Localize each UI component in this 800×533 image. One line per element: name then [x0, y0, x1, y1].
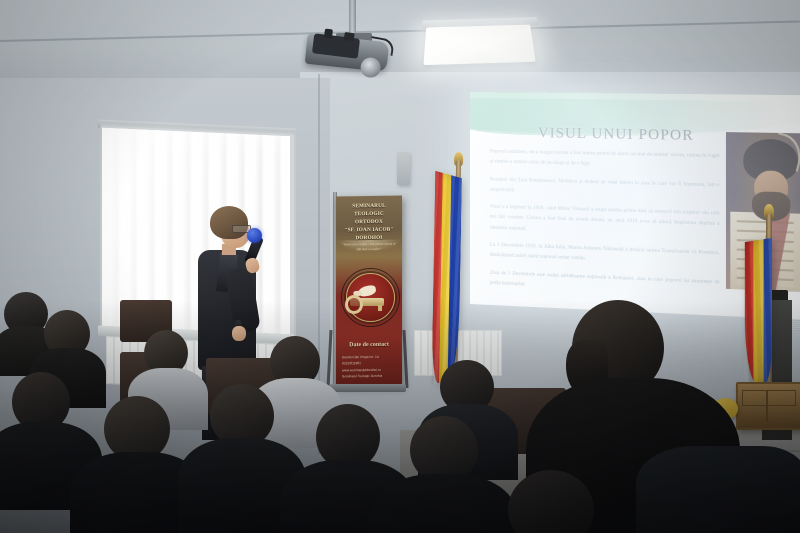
presentation-room-photo: VISUL UNUI POPOR Poporul românesc, de-a …: [0, 0, 800, 533]
banner-contact-title: Date de contact: [336, 342, 402, 349]
key-icon: [350, 298, 384, 306]
audience-member: [90, 396, 186, 516]
banner-line: SEMINARUL TEOLOGIC: [339, 202, 399, 219]
audience-member: [138, 330, 196, 404]
audience-member: [636, 446, 800, 533]
audience-shoulders: [636, 446, 800, 533]
slide-paragraph: Ziua de 1 Decembrie este astăzi sărbătoa…: [490, 267, 720, 298]
flag-folds: [745, 238, 772, 386]
presenter-second-hand: [232, 326, 246, 341]
banner-institution-name: SEMINARUL TEOLOGIC ORTODOX "SF. IOAN IAC…: [339, 202, 399, 243]
audience-member: [196, 384, 288, 504]
slide-paragraph: La 1 Decembrie 1918, la Alba Iulia, Mare…: [490, 240, 720, 270]
banner-contact-list: Dorohoi Str. Poștei nr. 14 0231/611961 w…: [342, 354, 400, 380]
audience-member: [0, 372, 86, 482]
contact-social: Seminarul Teologic Dorohoi: [342, 373, 400, 380]
slide-title: VISUL UNUI POPOR: [508, 125, 726, 146]
banner-motto: "Veniți toți și vedeți, / căți păcate câ…: [341, 242, 397, 252]
slide-paragraph: Românii din Țara Românească, Moldova și …: [490, 174, 720, 201]
audience-shoulders: [370, 474, 518, 533]
slide-body-text: Poporul românesc, de-a lungul istoriei a…: [490, 146, 720, 305]
banner-base: [330, 384, 406, 392]
slide-paragraph: Poporul românesc, de-a lungul istoriei a…: [490, 146, 720, 172]
wooden-flag-stand: [736, 382, 800, 430]
audience-member: [392, 416, 496, 533]
wall-speaker: [397, 152, 410, 185]
flag-folds: [432, 171, 462, 385]
presenter-hair: [210, 206, 248, 239]
led-panel-light: [423, 25, 535, 66]
portrait-plume: [770, 132, 800, 172]
audience-head: [508, 470, 594, 533]
microphone-icon: [247, 228, 262, 243]
slide-paragraph: Visul s-a împlinit la 1600, când Mihai V…: [490, 202, 720, 241]
audience-member: [498, 470, 618, 533]
